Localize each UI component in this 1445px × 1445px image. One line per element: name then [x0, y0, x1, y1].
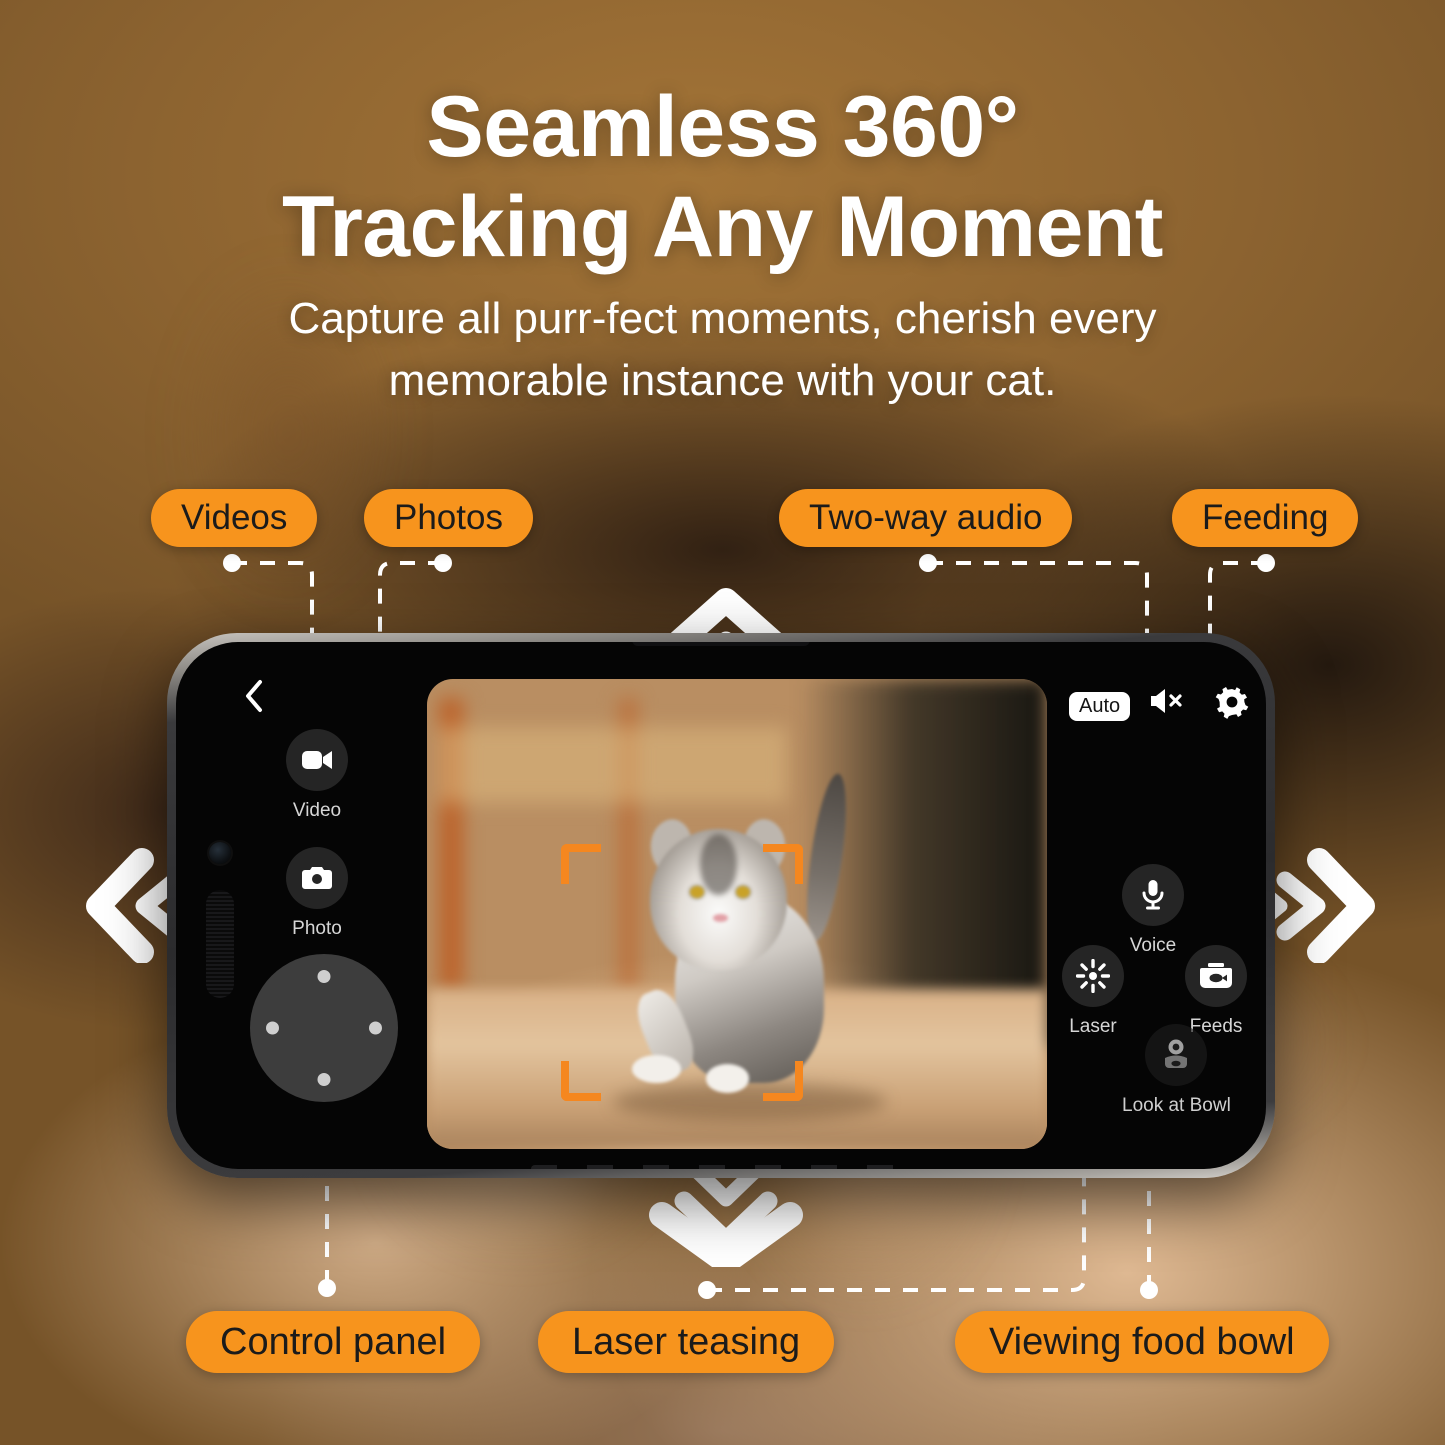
dpad-dot-right[interactable] — [369, 1022, 382, 1035]
laser-button[interactable]: Laser — [1062, 945, 1124, 1038]
focus-bracket-top-right — [763, 844, 803, 884]
page-subtitle: Capture all purr-fect moments, cherish e… — [0, 288, 1445, 413]
photo-mode-button[interactable]: Photo — [286, 847, 348, 940]
headline-line-1: Seamless 360° — [426, 79, 1018, 175]
camera-bowl-icon — [1159, 1038, 1193, 1072]
callout-photos[interactable]: Photos — [364, 489, 533, 547]
subhead-line-1: Capture all purr-fect moments, cherish e… — [288, 294, 1156, 343]
earpiece-speaker — [206, 890, 234, 998]
video-camera-icon — [301, 748, 333, 772]
kitten-paw-right — [706, 1064, 749, 1092]
dpad-dot-down[interactable] — [318, 1073, 331, 1086]
food-bowl-icon — [1199, 962, 1233, 990]
video-mode-label: Video — [293, 800, 341, 822]
kitten-eye-left — [690, 886, 704, 898]
look-at-bowl-label: Look at Bowl — [1122, 1095, 1231, 1117]
video-camera-icon-wrap — [286, 729, 348, 791]
camera-icon-wrap — [286, 847, 348, 909]
callout-viewing-food-bowl[interactable]: Viewing food bowl — [955, 1311, 1329, 1373]
front-camera-lens — [209, 842, 231, 864]
headline-line-2: Tracking Any Moment — [0, 178, 1445, 278]
dpad-dot-up[interactable] — [318, 970, 331, 983]
food-bowl-icon-wrap — [1185, 945, 1247, 1007]
video-mode-button[interactable]: Video — [286, 729, 348, 822]
callout-feeding[interactable]: Feeding — [1172, 489, 1358, 547]
kitten-eye-right — [736, 886, 750, 898]
camera-icon — [301, 865, 333, 891]
phone-device: Video Photo Auto — [167, 633, 1275, 1178]
look-at-bowl-button[interactable]: Look at Bowl — [1122, 1024, 1231, 1117]
callout-control-panel[interactable]: Control panel — [186, 1311, 480, 1373]
laser-label: Laser — [1069, 1016, 1117, 1038]
kitten-shadow — [613, 1083, 886, 1121]
focus-bracket-top-left — [561, 844, 601, 884]
focus-bracket-bottom-right — [763, 1061, 803, 1101]
phone-screen[interactable]: Video Photo Auto — [176, 642, 1266, 1169]
dynamic-island — [632, 642, 810, 646]
speaker-grille — [531, 1165, 911, 1169]
focus-bracket-bottom-left — [561, 1061, 601, 1101]
gear-icon — [1214, 684, 1250, 720]
laser-burst-icon — [1076, 959, 1110, 993]
voice-button[interactable]: Voice — [1122, 864, 1184, 957]
kitten-paw-left — [632, 1055, 682, 1083]
live-video-viewfinder[interactable] — [427, 679, 1047, 1149]
callout-two-way-audio[interactable]: Two-way audio — [779, 489, 1072, 547]
settings-button[interactable] — [1214, 684, 1250, 720]
camera-bowl-icon-wrap — [1145, 1024, 1207, 1086]
speaker-mute-button[interactable] — [1148, 686, 1186, 716]
microphone-icon-wrap — [1122, 864, 1184, 926]
callout-videos[interactable]: Videos — [151, 489, 317, 547]
auto-quality-badge[interactable]: Auto — [1069, 692, 1130, 721]
kitten-forehead-stripes — [700, 834, 737, 895]
back-button[interactable] — [236, 678, 272, 714]
subhead-line-2: memorable instance with your cat. — [389, 356, 1057, 405]
photo-mode-label: Photo — [292, 918, 342, 940]
page-title: Seamless 360° Tracking Any Moment — [0, 78, 1445, 278]
dpad-dot-left[interactable] — [266, 1022, 279, 1035]
chevron-left-icon — [244, 679, 264, 713]
speaker-mute-icon — [1148, 686, 1186, 716]
microphone-icon — [1140, 878, 1166, 912]
laser-icon-wrap — [1062, 945, 1124, 1007]
callout-laser-teasing[interactable]: Laser teasing — [538, 1311, 834, 1373]
direction-pad[interactable] — [250, 954, 398, 1102]
voice-label: Voice — [1130, 935, 1176, 957]
